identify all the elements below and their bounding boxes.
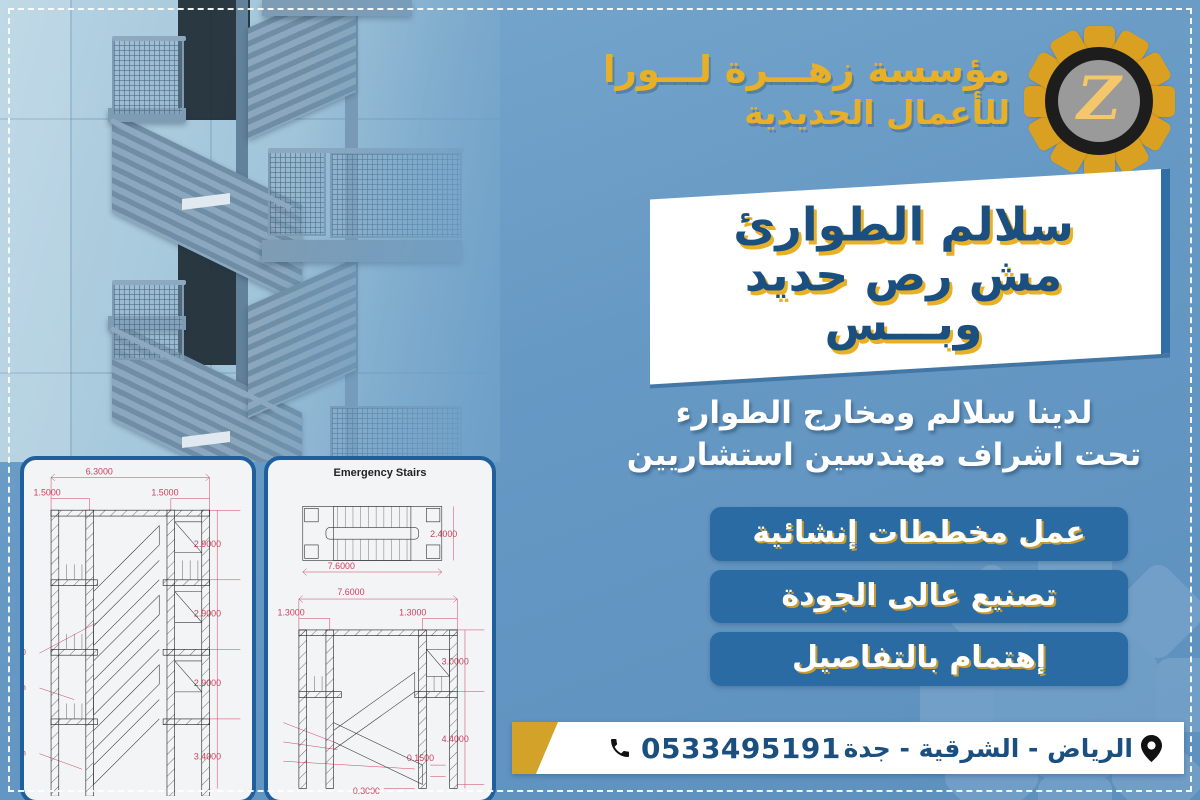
feature-pill-list: عمل مخططات إنشائية تصنيع عالى الجودة إهت… xyxy=(710,507,1128,686)
headline-panel: سلالم الطوارئ مش رص حديد وبـــس xyxy=(650,184,1170,369)
svg-text:7.6000: 7.6000 xyxy=(337,587,364,597)
feature-pill-quality: تصنيع عالى الجودة xyxy=(710,570,1128,624)
cad-card-elevation[interactable]: 6.3000 1.5000 1.5000 2.9000 2.9000 2.900… xyxy=(20,456,256,800)
cad-card-emergency-stairs[interactable]: Emergency Stairs xyxy=(264,456,496,800)
locations-group: الرياض - الشرقية - جدة xyxy=(844,734,1162,763)
svg-text:7.6000: 7.6000 xyxy=(328,561,355,571)
svg-text:1.5000: 1.5000 xyxy=(151,488,178,498)
feature-pill-plans: عمل مخططات إنشائية xyxy=(710,507,1128,561)
phone-group[interactable]: 0533495191 xyxy=(608,732,841,765)
poster-canvas: Z مؤسسة زهـــرة لـــورا للأعمال الحديدية… xyxy=(0,0,1200,800)
svg-text:2.4000: 2.4000 xyxy=(430,529,457,539)
subtitle-block: لدينا سلالم ومخارج الطوارء تحت اشراف مهن… xyxy=(604,392,1164,476)
svg-text:1.3000: 1.3000 xyxy=(399,607,426,617)
locations-text: الرياض - الشرقية - جدة xyxy=(844,734,1133,763)
svg-text:1.5000: 1.5000 xyxy=(34,488,61,498)
emergency-staircase-photo xyxy=(0,0,500,462)
brand-name-line1: مؤسسة زهـــرة لـــورا xyxy=(603,48,1010,92)
headline-line3: وبـــس xyxy=(676,300,1131,350)
brand-header: Z مؤسسة زهـــرة لـــورا للأعمال الحديدية xyxy=(603,26,1174,176)
location-pin-icon xyxy=(1141,735,1162,762)
svg-text:1.3000: 1.3000 xyxy=(278,607,305,617)
cad-drawing-elevation: 6.3000 1.5000 1.5000 2.9000 2.9000 2.900… xyxy=(24,460,252,796)
gear-logo-icon: Z xyxy=(1024,26,1174,176)
cad-drawing-plan: 2.4000 7.6000 7.6000 xyxy=(268,460,492,796)
phone-number[interactable]: 0533495191 xyxy=(641,732,841,765)
logo-letter: Z xyxy=(1077,69,1121,129)
svg-text:mm: mm xyxy=(24,749,26,758)
svg-text:5mm: 5mm xyxy=(24,683,26,692)
svg-text:0 mm: 0 mm xyxy=(24,648,26,657)
subtitle-line2: تحت اشراف مهندسين استشاريين xyxy=(604,434,1164,476)
contact-footer-bar: الرياض - الشرقية - جدة 0533495191 xyxy=(512,722,1184,774)
brand-name-line2: للأعمال الحديدية xyxy=(603,92,1010,133)
brand-name: مؤسسة زهـــرة لـــورا للأعمال الحديدية xyxy=(603,26,1010,133)
phone-handset-icon xyxy=(608,736,632,760)
subtitle-line1: لدينا سلالم ومخارج الطوارء xyxy=(604,392,1164,434)
headline-line1: سلالم الطوارئ xyxy=(676,200,1131,250)
svg-text:6.3000: 6.3000 xyxy=(86,466,113,476)
headline-line2: مش رص حديد xyxy=(676,250,1131,300)
feature-pill-details: إهتمام بالتفاصيل xyxy=(710,632,1128,686)
svg-text:0.3000: 0.3000 xyxy=(353,786,380,796)
